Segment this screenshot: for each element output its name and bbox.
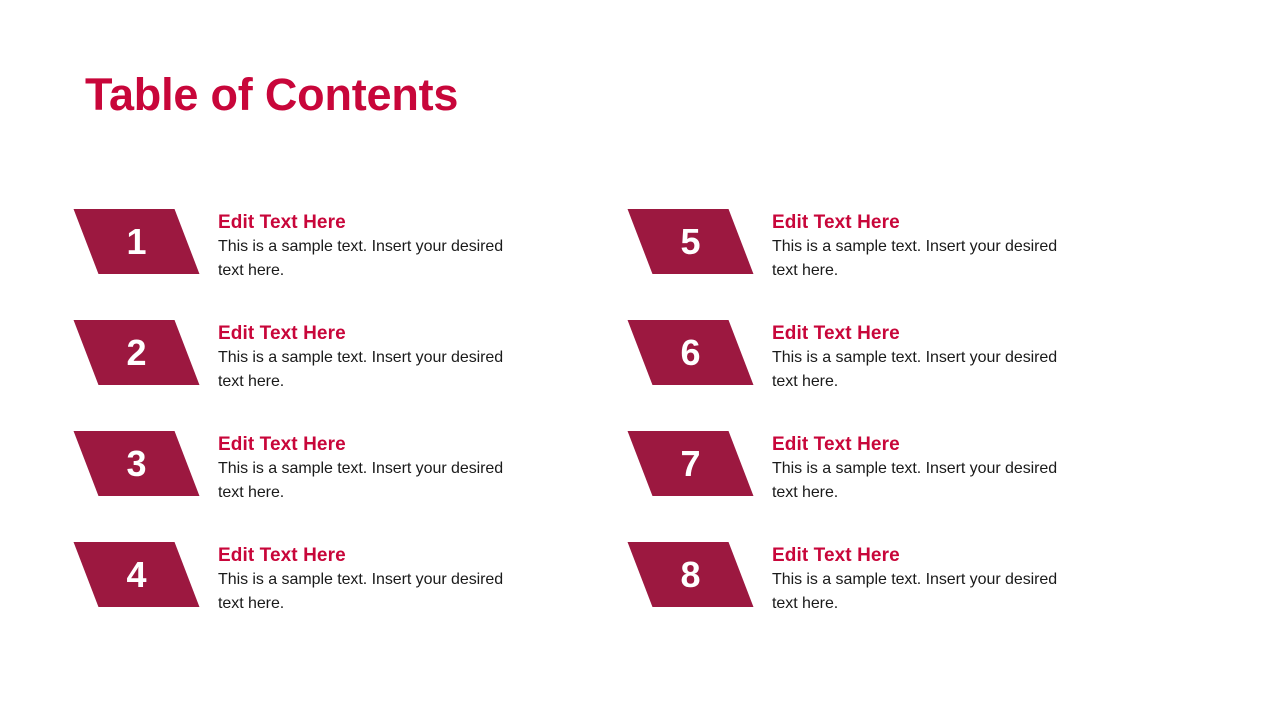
toc-item-heading: Edit Text Here (218, 210, 548, 235)
toc-item-3[interactable]: 3 Edit Text Here This is a sample text. … (86, 431, 556, 531)
number-badge-4: 4 (74, 542, 200, 607)
toc-item-description: This is a sample text. Insert your desir… (218, 346, 508, 393)
toc-item-7[interactable]: 7 Edit Text Here This is a sample text. … (640, 431, 1110, 531)
badge-number-label: 7 (640, 431, 741, 496)
slide-canvas: Table of Contents 1 Edit Text Here This … (0, 0, 1280, 720)
toc-item-1[interactable]: 1 Edit Text Here This is a sample text. … (86, 209, 556, 309)
toc-item-heading: Edit Text Here (772, 543, 1102, 568)
toc-item-description: This is a sample text. Insert your desir… (218, 568, 508, 615)
toc-item-text-8: Edit Text Here This is a sample text. In… (772, 543, 1102, 615)
badge-number-label: 3 (86, 431, 187, 496)
number-badge-2: 2 (74, 320, 200, 385)
toc-item-text-6: Edit Text Here This is a sample text. In… (772, 321, 1102, 393)
toc-item-4[interactable]: 4 Edit Text Here This is a sample text. … (86, 542, 556, 642)
badge-number-label: 6 (640, 320, 741, 385)
toc-item-heading: Edit Text Here (218, 543, 548, 568)
toc-item-description: This is a sample text. Insert your desir… (772, 457, 1062, 504)
toc-item-text-5: Edit Text Here This is a sample text. In… (772, 210, 1102, 282)
toc-item-heading: Edit Text Here (218, 321, 548, 346)
number-badge-5: 5 (628, 209, 754, 274)
table-of-contents-list: 1 Edit Text Here This is a sample text. … (0, 0, 1280, 720)
toc-item-text-1: Edit Text Here This is a sample text. In… (218, 210, 548, 282)
toc-item-text-2: Edit Text Here This is a sample text. In… (218, 321, 548, 393)
badge-number-label: 8 (640, 542, 741, 607)
toc-item-description: This is a sample text. Insert your desir… (772, 568, 1062, 615)
number-badge-8: 8 (628, 542, 754, 607)
toc-item-text-7: Edit Text Here This is a sample text. In… (772, 432, 1102, 504)
toc-item-5[interactable]: 5 Edit Text Here This is a sample text. … (640, 209, 1110, 309)
toc-item-heading: Edit Text Here (772, 210, 1102, 235)
toc-item-heading: Edit Text Here (772, 432, 1102, 457)
badge-number-label: 4 (86, 542, 187, 607)
toc-item-6[interactable]: 6 Edit Text Here This is a sample text. … (640, 320, 1110, 420)
badge-number-label: 5 (640, 209, 741, 274)
toc-item-description: This is a sample text. Insert your desir… (772, 346, 1062, 393)
toc-item-text-3: Edit Text Here This is a sample text. In… (218, 432, 548, 504)
number-badge-1: 1 (74, 209, 200, 274)
toc-item-text-4: Edit Text Here This is a sample text. In… (218, 543, 548, 615)
toc-item-8[interactable]: 8 Edit Text Here This is a sample text. … (640, 542, 1110, 642)
number-badge-6: 6 (628, 320, 754, 385)
toc-item-description: This is a sample text. Insert your desir… (218, 457, 508, 504)
badge-number-label: 2 (86, 320, 187, 385)
toc-item-description: This is a sample text. Insert your desir… (772, 235, 1062, 282)
number-badge-3: 3 (74, 431, 200, 496)
toc-item-description: This is a sample text. Insert your desir… (218, 235, 508, 282)
number-badge-7: 7 (628, 431, 754, 496)
toc-item-2[interactable]: 2 Edit Text Here This is a sample text. … (86, 320, 556, 420)
toc-item-heading: Edit Text Here (772, 321, 1102, 346)
toc-item-heading: Edit Text Here (218, 432, 548, 457)
badge-number-label: 1 (86, 209, 187, 274)
